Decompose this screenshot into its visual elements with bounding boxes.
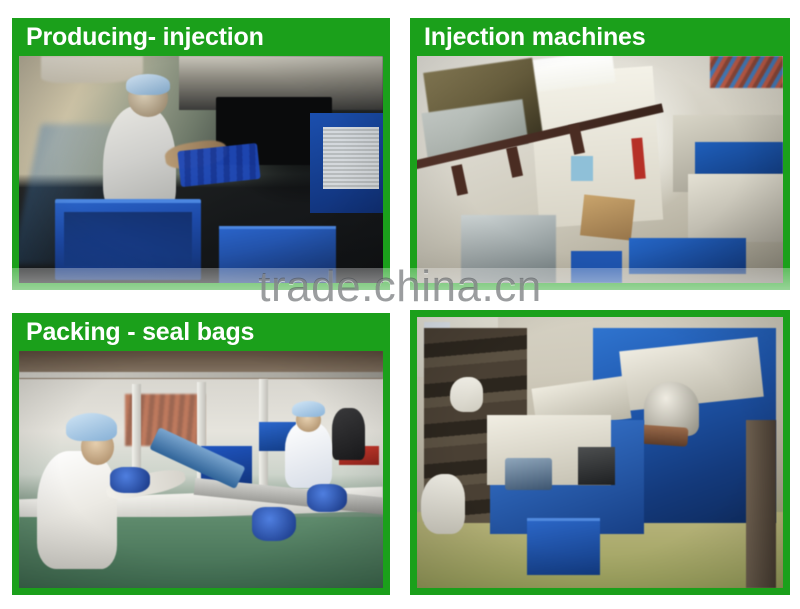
photo-detail-worker-two-cap (292, 401, 325, 418)
photo-detail-blue-crate-small (219, 226, 335, 283)
photo-producing-injection (19, 56, 383, 283)
photo-frame-injection-machine-closeup (417, 317, 783, 588)
photo-detail-worker-cap (126, 74, 170, 94)
photo-detail-blue-crate-large (55, 199, 201, 280)
photo-detail-control-panel (578, 447, 615, 485)
photo-detail-blue-cabinet (310, 113, 383, 213)
photo-detail-sealed-bag (307, 484, 347, 512)
photo-detail-right-post (746, 420, 775, 588)
photo-detail-wall-poster (571, 156, 593, 181)
photo-detail-sealed-bag (252, 507, 296, 540)
photo-detail-ceiling-beam (19, 372, 383, 378)
photo-frame-injection-machines (417, 56, 783, 283)
panel-title-producing-injection: Producing- injection (12, 18, 390, 56)
photo-detail-sealed-bag (110, 467, 150, 493)
photo-detail-worker-far (332, 408, 365, 460)
photo-frame-producing-injection (19, 56, 383, 283)
photo-frame-packing-seal-bags (19, 351, 383, 588)
photo-detail-machine-blue-base (629, 238, 746, 274)
panel-packing-seal-bags[interactable]: Packing - seal bags (12, 313, 390, 595)
photo-detail-glass-partition (461, 215, 556, 283)
photo-detail-beam-brace (506, 146, 523, 177)
panel-injection-machines[interactable]: Injection machines (410, 18, 790, 290)
photo-detail-overhead-pipes (710, 56, 783, 88)
photo-detail-worker-one-body (37, 451, 117, 570)
photo-detail-safety-window (505, 458, 553, 491)
panel-title-injection-machines: Injection machines (410, 18, 790, 56)
photo-detail-white-sack (450, 377, 483, 412)
photo-detail-worker-one-cap (66, 413, 117, 441)
photo-injection-machine-closeup (417, 317, 783, 588)
photo-injection-machines (417, 56, 783, 283)
photo-detail-beam-brace (451, 164, 468, 195)
product-photo-collage: Producing- injection Injection machines (0, 0, 800, 609)
panel-producing-injection[interactable]: Producing- injection (12, 18, 390, 290)
photo-packing-seal-bags (19, 351, 383, 588)
photo-detail-carton (580, 194, 635, 240)
photo-detail-blue-crate (527, 518, 600, 575)
photo-detail-blue-parts (177, 143, 260, 187)
panel-title-packing-seal-bags: Packing - seal bags (12, 313, 390, 351)
photo-detail-blue-bin (571, 251, 622, 283)
photo-detail-machine-right-lower (688, 174, 783, 242)
panel-injection-machine-closeup[interactable] (410, 310, 790, 595)
photo-detail-worker-two-body (285, 422, 332, 488)
photo-detail-machine-blue-body (695, 142, 783, 174)
photo-detail-white-sack (421, 474, 465, 534)
